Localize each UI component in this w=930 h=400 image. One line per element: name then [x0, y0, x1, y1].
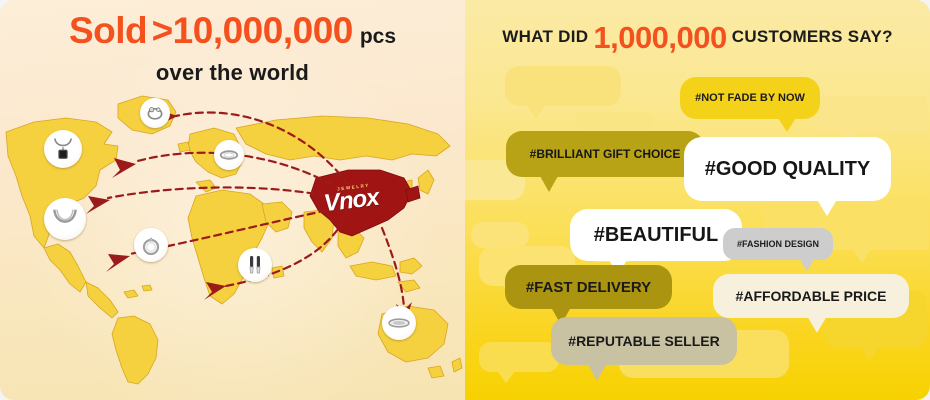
bubble-label: #BEAUTIFUL	[594, 225, 718, 245]
bubble-label: #FAST DELIVERY	[526, 280, 651, 295]
bubble-label: #REPUTABLE SELLER	[568, 334, 719, 348]
sold-prefix: Sold	[69, 10, 147, 51]
decorative-bubble-2	[575, 112, 655, 130]
bubble-affordable-price[interactable]: #AFFORDABLE PRICE	[713, 274, 909, 318]
pendant-necklace-icon	[49, 135, 77, 163]
pin-bracelet	[140, 98, 170, 128]
bubble-label: #FASHION DESIGN	[737, 240, 819, 249]
pin-earrings	[238, 248, 272, 282]
bubble-beautiful[interactable]: #BEAUTIFUL	[570, 209, 742, 261]
bubble-label: #AFFORDABLE PRICE	[736, 289, 887, 303]
reviews-heading-before: WHAT DID	[502, 27, 588, 46]
promo-banner: Sold >10,000,000pcs over the world	[0, 0, 930, 400]
earrings-icon	[243, 253, 267, 277]
bubble-fashion-design[interactable]: #FASHION DESIGN	[723, 228, 833, 260]
bubble-reputable-seller[interactable]: #REPUTABLE SELLER	[551, 317, 737, 365]
left-headline-block: Sold >10,000,000pcs over the world	[0, 12, 465, 86]
bubble-fast-delivery[interactable]: #FAST DELIVERY	[505, 265, 672, 309]
pin-ring-band	[382, 306, 416, 340]
decorative-bubble-4	[471, 222, 529, 248]
sold-line: Sold >10,000,000pcs	[0, 12, 465, 49]
right-panel-customer-reviews: WHAT DID1,000,000CUSTOMERS SAY? #	[465, 0, 930, 400]
decorative-bubble-1	[505, 66, 621, 106]
bangle-icon	[218, 144, 240, 166]
bubble-not-fade-by-now[interactable]: #NOT FADE BY NOW	[680, 77, 820, 119]
pin-pendant-necklace	[44, 130, 82, 168]
pin-bangle	[214, 140, 244, 170]
reviews-heading: WHAT DID1,000,000CUSTOMERS SAY?	[465, 20, 930, 56]
reviews-heading-after: CUSTOMERS SAY?	[732, 27, 893, 46]
ring-icon	[139, 233, 163, 257]
necklace-icon	[49, 203, 81, 235]
decorative-bubble-9	[813, 96, 927, 132]
bubble-good-quality[interactable]: #GOOD QUALITY	[684, 137, 891, 201]
pin-ring	[134, 228, 168, 262]
sold-subheadline: over the world	[0, 60, 465, 86]
bubble-label: #NOT FADE BY NOW	[695, 93, 805, 104]
pin-necklace	[44, 198, 86, 240]
left-panel-world-sales: Sold >10,000,000pcs over the world	[0, 0, 465, 400]
bubble-label: #GOOD QUALITY	[705, 159, 871, 179]
bubble-brilliant-gift-choice[interactable]: #BRILLIANT GIFT CHOICE	[506, 131, 704, 177]
sold-unit: pcs	[360, 25, 396, 48]
decorative-bubble-6	[479, 342, 559, 372]
reviews-heading-number: 1,000,000	[593, 20, 726, 55]
sold-number: >10,000,000	[152, 10, 353, 51]
ring-band-icon	[386, 310, 412, 336]
bracelet-icon	[145, 103, 165, 123]
bubble-label: #BRILLIANT GIFT CHOICE	[530, 148, 681, 160]
